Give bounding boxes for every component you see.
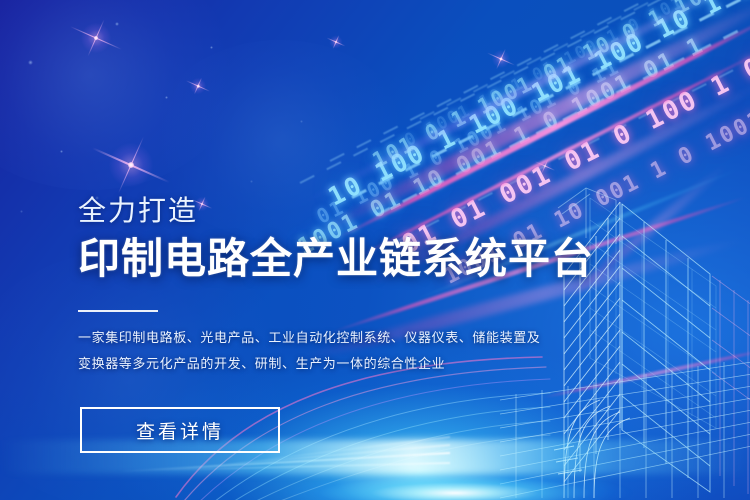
hero-description: 一家集印制电路板、光电产品、工业自动化控制系统、仪器仪表、储能装置及变换器等多元… [78,325,548,377]
hero-eyebrow: 全力打造 [78,197,198,225]
hero-copy: 全力打造 印制电路全产业链系统平台 一家集印制电路板、光电产品、工业自动化控制系… [78,0,598,500]
star-dust [60,150,63,153]
star-dust [20,210,23,213]
page-title: 印制电路全产业链系统平台 [78,237,594,282]
title-divider [78,310,158,312]
view-details-button[interactable]: 查看详情 [80,407,280,453]
hero-banner: 01 100 1 0 1001 101 0 11 0 1001 10 1 01 … [0,0,750,500]
star-dust [28,60,33,65]
